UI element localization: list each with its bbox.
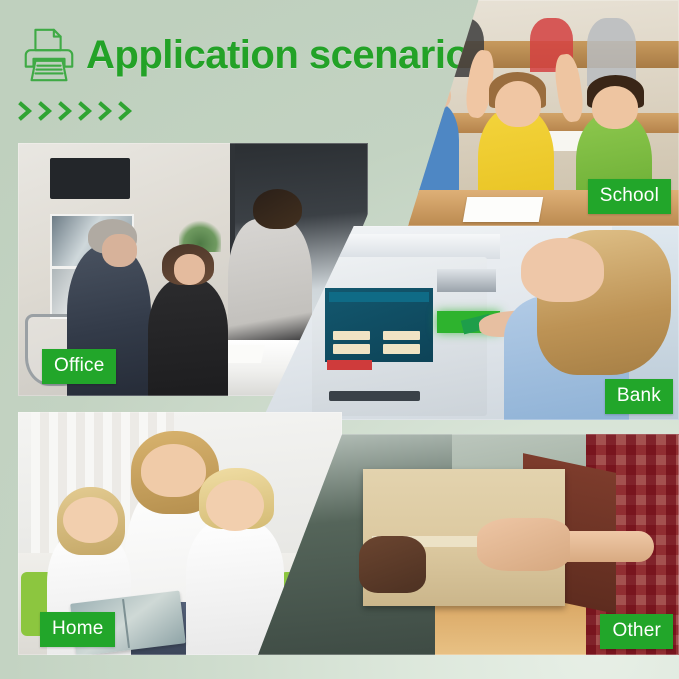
badge-other: Other — [600, 614, 673, 649]
chevron-arrows — [18, 98, 148, 124]
page-title: Application scenarios — [86, 26, 491, 84]
badge-school: School — [588, 179, 671, 214]
application-scenarios-banner: Application scenarios — [0, 0, 679, 679]
badge-home: Home — [40, 612, 115, 647]
printer-icon — [18, 24, 80, 86]
badge-office: Office — [42, 349, 116, 384]
badge-bank: Bank — [605, 379, 673, 414]
